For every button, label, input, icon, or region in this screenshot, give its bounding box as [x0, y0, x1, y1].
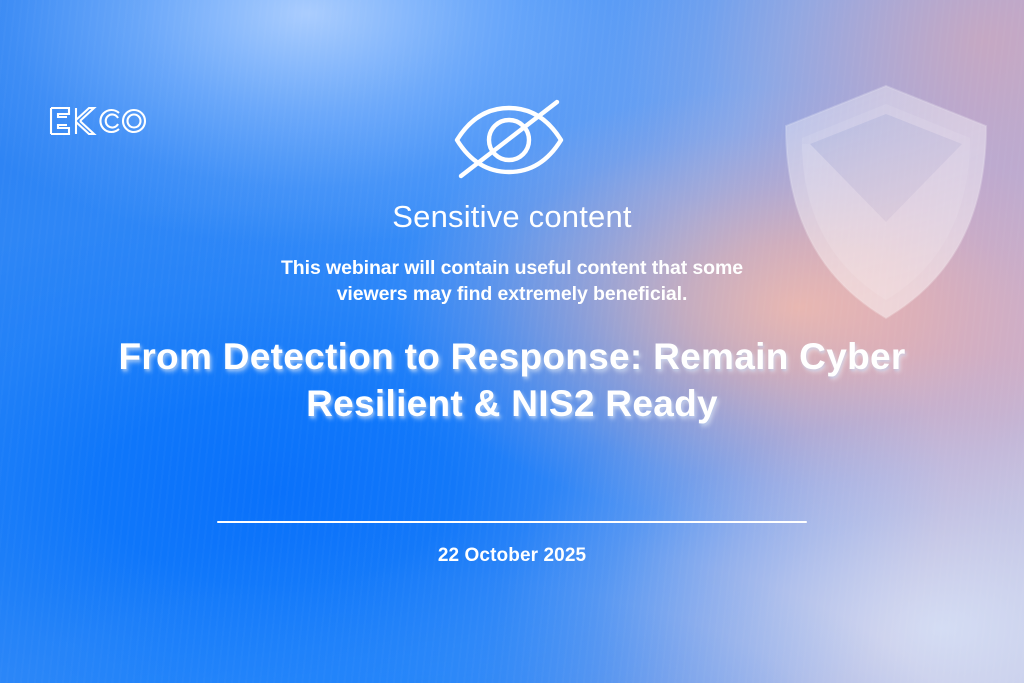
divider-container: [0, 521, 1024, 524]
notice-body: This webinar will contain useful content…: [0, 256, 1024, 308]
event-date: 22 October 2025: [0, 545, 1024, 567]
webinar-promo-slide: Sensitive content This webinar will cont…: [0, 0, 1024, 683]
page-title: From Detection to Response: Remain Cyber…: [0, 333, 1024, 428]
divider: [217, 521, 807, 523]
page-title-line-1: From Detection to Response:: [118, 336, 642, 377]
notice-body-line-1: This webinar will contain useful content…: [0, 256, 1024, 282]
page-title-line-3: Ready: [605, 383, 718, 424]
sensitive-content-label: Sensitive content: [0, 200, 1024, 234]
eye-off-icon: [451, 96, 573, 180]
eye-off-icon-container: [0, 96, 1024, 185]
notice-body-line-2: viewers may find extremely beneficial.: [0, 282, 1024, 308]
